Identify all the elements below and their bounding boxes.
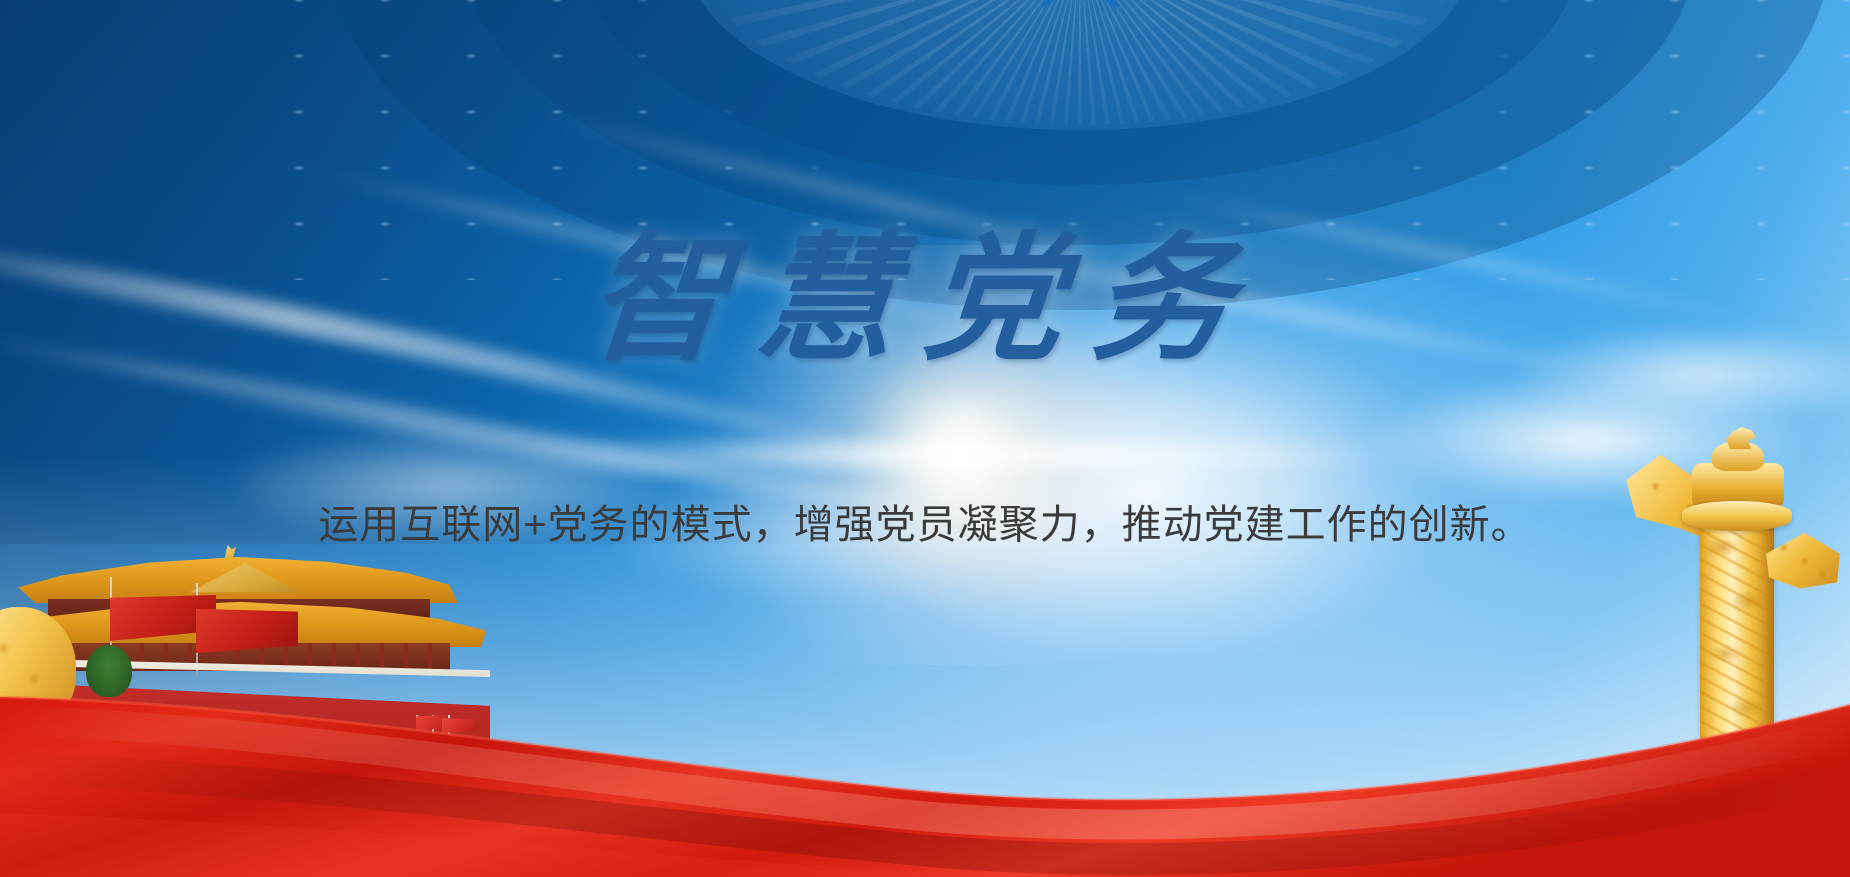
banner-subtitle: 运用互联网+党务的模式，增强党员凝聚力，推动党建工作的创新。 (0, 492, 1850, 550)
party-affairs-banner: 智慧党务 运用互联网+党务的模式，增强党员凝聚力，推动党建工作的创新。 中华人民… (0, 0, 1850, 877)
page-title: 智慧党务 (0, 218, 1850, 381)
